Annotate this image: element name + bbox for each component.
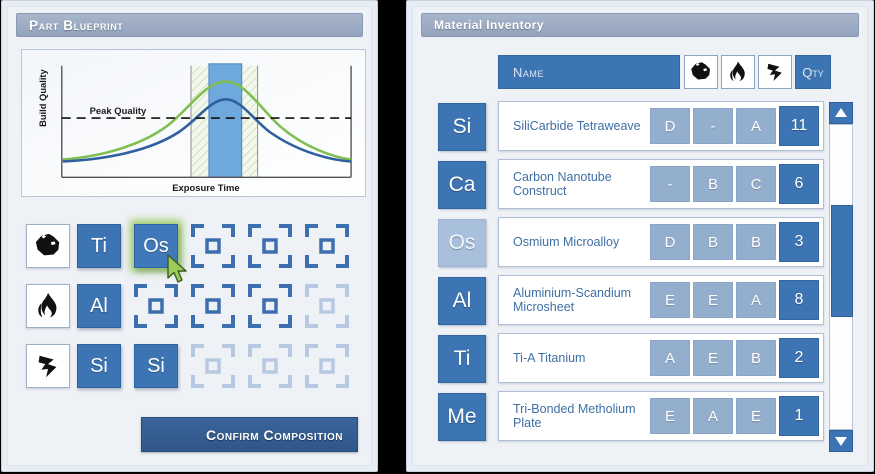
- material-symbol: Al: [438, 277, 486, 325]
- stat-ore: E: [650, 398, 690, 434]
- flame-icon: [26, 284, 70, 328]
- ore-icon[interactable]: [684, 55, 718, 89]
- material-symbol: Si: [438, 103, 486, 151]
- grid-row: Ti Os: [21, 222, 371, 272]
- material-symbol: Ca: [438, 161, 486, 209]
- material-card[interactable]: Carbon Nanotube Construct - B C 6: [498, 159, 824, 209]
- material-name: Ti-A Titanium: [499, 351, 650, 365]
- grid-slot[interactable]: Ti: [77, 224, 121, 268]
- element-tile[interactable]: Si: [134, 344, 178, 388]
- material-qty: 3: [779, 222, 819, 262]
- stat-flame: E: [693, 282, 733, 318]
- chart-svg: Peak Quality Build Quality Exposure Time: [22, 50, 365, 196]
- material-symbol: Ti: [438, 335, 486, 383]
- stat-ore: A: [650, 340, 690, 376]
- composition-grid: Ti Os: [21, 222, 371, 397]
- material-qty: 2: [779, 338, 819, 378]
- threshold-label: Peak Quality: [90, 105, 147, 116]
- material-inventory-panel: Material Inventory Name Qty Si SiliCarbi…: [406, 0, 874, 472]
- material-symbol: Me: [438, 393, 486, 441]
- material-qty: 8: [779, 280, 819, 320]
- element-tile[interactable]: Al: [77, 284, 121, 328]
- scrollbar-track[interactable]: [829, 124, 853, 430]
- material-name: Carbon Nanotube Construct: [499, 170, 650, 198]
- stat-ore: -: [650, 166, 690, 202]
- element-tile[interactable]: Si: [77, 344, 121, 388]
- inventory-scrollbar[interactable]: [829, 102, 853, 452]
- grid-slot-empty[interactable]: [248, 284, 292, 328]
- list-item[interactable]: Os Osmium Microalloy D B B 3: [438, 215, 838, 273]
- stat-ore: D: [650, 224, 690, 260]
- grid-slot-locked: [305, 284, 349, 328]
- ore-icon: [26, 224, 70, 268]
- material-name: Aluminium-Scandium Microsheet: [499, 286, 650, 314]
- page-title: Part Blueprint: [16, 13, 363, 37]
- list-item[interactable]: Al Aluminium-Scandium Microsheet E E A 8: [438, 273, 838, 331]
- grid-slot[interactable]: Si: [134, 344, 178, 388]
- grid-slot-locked: [191, 344, 235, 388]
- stat-lightning: A: [736, 108, 776, 144]
- grid-slot[interactable]: Si: [77, 344, 121, 388]
- element-tile[interactable]: Ti: [77, 224, 121, 268]
- stat-lightning: C: [736, 166, 776, 202]
- grid-slot-empty[interactable]: [191, 224, 235, 268]
- scrollbar-thumb[interactable]: [831, 205, 853, 317]
- scroll-down-arrow[interactable]: [829, 430, 853, 452]
- panel-body: Part Blueprint: [7, 6, 372, 466]
- material-card[interactable]: Tri-Bonded Metholium Plate E A E 1: [498, 391, 824, 441]
- material-card[interactable]: Aluminium-Scandium Microsheet E E A 8: [498, 275, 824, 325]
- material-qty: 1: [779, 396, 819, 436]
- stat-flame: B: [693, 166, 733, 202]
- grid-slot[interactable]: Al: [77, 284, 121, 328]
- list-item[interactable]: Me Tri-Bonded Metholium Plate E A E 1: [438, 389, 838, 447]
- grid-slot-empty[interactable]: [134, 284, 178, 328]
- grid-slot-locked: [305, 344, 349, 388]
- x-axis-label: Exposure Time: [172, 182, 239, 193]
- list-item[interactable]: Ca Carbon Nanotube Construct - B C 6: [438, 157, 838, 215]
- stat-lightning: B: [736, 224, 776, 260]
- material-symbol: Os: [438, 219, 486, 267]
- grid-slot-locked: [248, 344, 292, 388]
- grid-row: Si Si: [21, 342, 371, 392]
- material-qty: 6: [779, 164, 819, 204]
- grid-slot-empty[interactable]: [248, 224, 292, 268]
- stat-flame: B: [693, 224, 733, 260]
- stat-ore: E: [650, 282, 690, 318]
- column-header-name[interactable]: Name: [498, 55, 680, 89]
- material-name: SiliCarbide Tetraweave: [499, 119, 650, 133]
- panel-body: Material Inventory Name Qty Si SiliCarbi…: [412, 6, 868, 466]
- grid-row: Al: [21, 282, 371, 332]
- grid-slot-empty[interactable]: [305, 224, 349, 268]
- part-blueprint-panel: Part Blueprint: [1, 0, 378, 472]
- column-header-qty[interactable]: Qty: [795, 55, 831, 89]
- grid-slot-empty[interactable]: [191, 284, 235, 328]
- material-qty: 11: [779, 106, 819, 146]
- inventory-header: Name Qty: [498, 55, 807, 89]
- stat-flame: A: [693, 398, 733, 434]
- stat-lightning: B: [736, 340, 776, 376]
- grid-slot[interactable]: Os: [134, 224, 178, 268]
- scroll-up-arrow[interactable]: [829, 102, 853, 124]
- material-name: Osmium Microalloy: [499, 235, 650, 249]
- list-item[interactable]: Si SiliCarbide Tetraweave D - A 11: [438, 99, 838, 157]
- stat-lightning: E: [736, 398, 776, 434]
- material-card[interactable]: SiliCarbide Tetraweave D - A 11: [498, 101, 824, 151]
- list-item[interactable]: Ti Ti-A Titanium A E B 2: [438, 331, 838, 389]
- stat-flame: -: [693, 108, 733, 144]
- stat-flame: E: [693, 340, 733, 376]
- element-tile-dragging[interactable]: Os: [134, 224, 178, 268]
- lightning-icon: [26, 344, 70, 388]
- flame-icon[interactable]: [721, 55, 755, 89]
- stat-ore: D: [650, 108, 690, 144]
- material-card[interactable]: Osmium Microalloy D B B 3: [498, 217, 824, 267]
- material-name: Tri-Bonded Metholium Plate: [499, 402, 650, 430]
- stat-lightning: A: [736, 282, 776, 318]
- build-quality-chart: Peak Quality Build Quality Exposure Time: [21, 49, 366, 197]
- confirm-composition-button[interactable]: Confirm Composition: [141, 417, 358, 452]
- y-axis-label: Build Quality: [37, 68, 48, 126]
- lightning-icon[interactable]: [758, 55, 792, 89]
- material-card[interactable]: Ti-A Titanium A E B 2: [498, 333, 824, 383]
- page-title: Material Inventory: [421, 13, 859, 37]
- inventory-list: Si SiliCarbide Tetraweave D - A 11 Ca Ca…: [438, 99, 838, 447]
